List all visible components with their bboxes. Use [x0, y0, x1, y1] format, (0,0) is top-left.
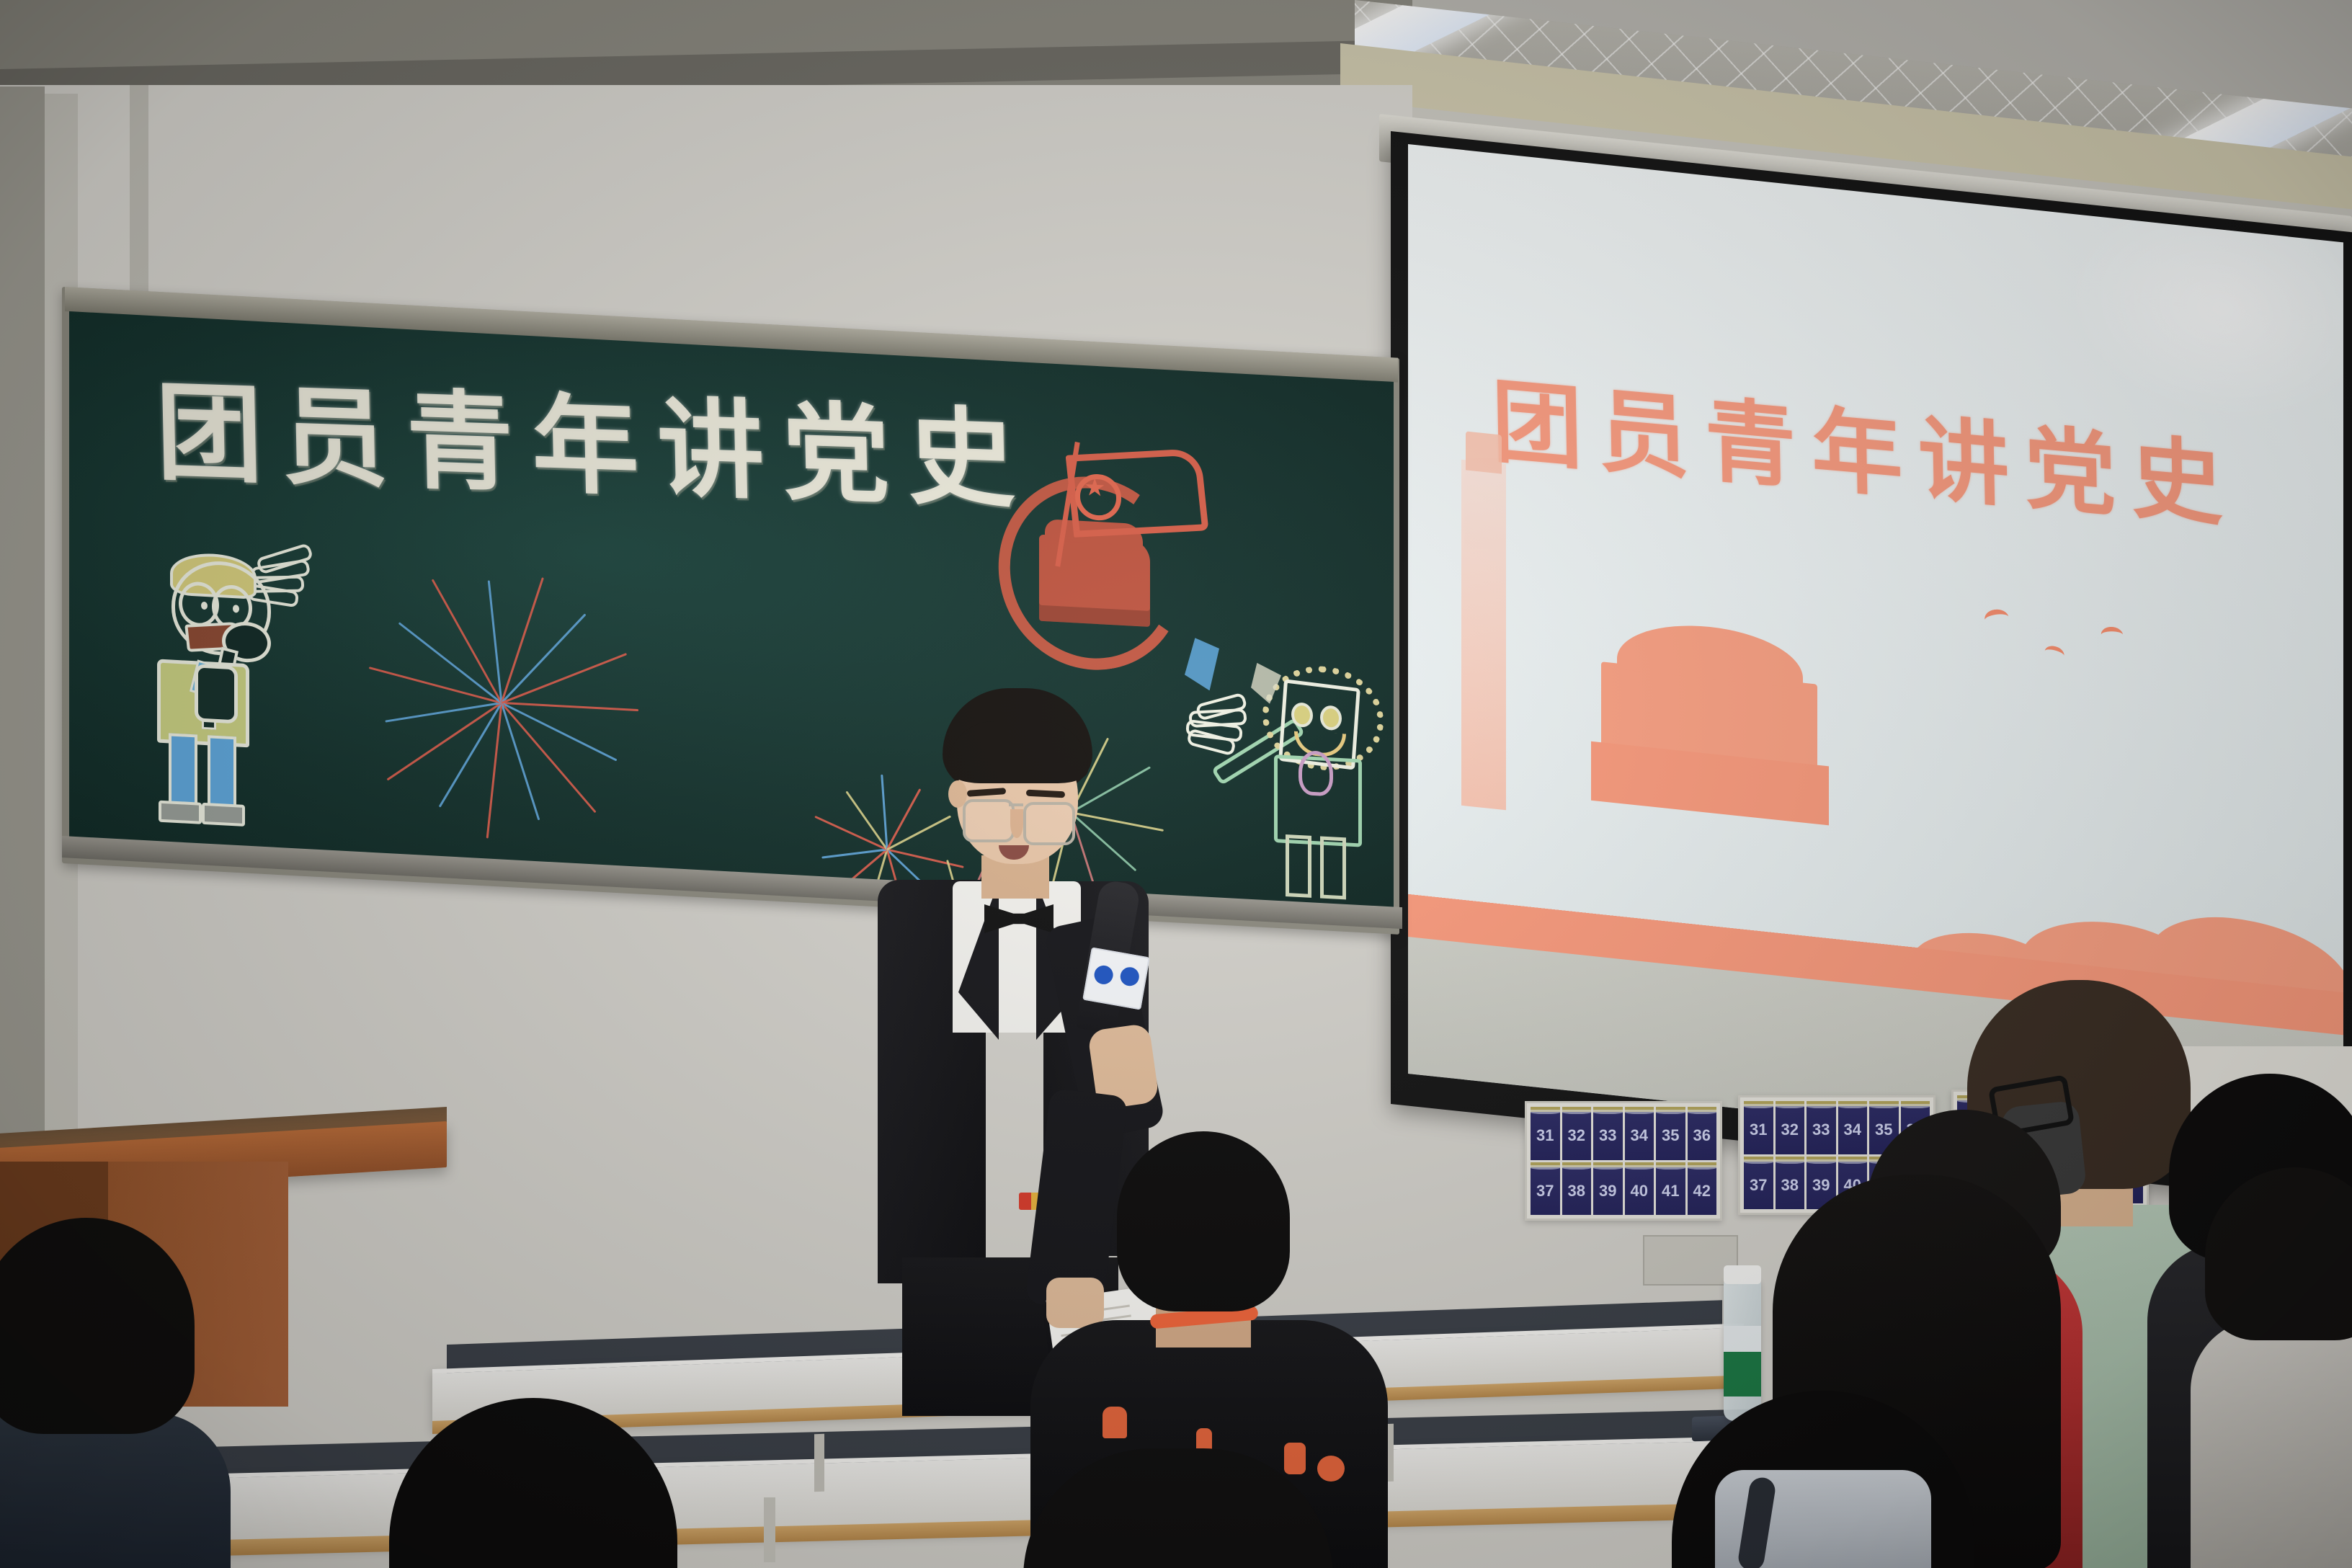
- water-bottle-upper-label: [1724, 1326, 1761, 1353]
- phone-pocket-board[interactable]: 31 32 33 34 35 36 37 38 39 40 41 42: [1525, 1101, 1722, 1221]
- dove-icon: [2101, 627, 2124, 643]
- dove-icon: [1982, 608, 2010, 630]
- pillar-outer: [0, 86, 45, 1167]
- pocket-cell[interactable]: 39: [1593, 1162, 1623, 1216]
- dove-icon: [2044, 644, 2065, 663]
- desk-divider: [814, 1434, 824, 1492]
- lecture-hall-photo: 团员青年讲党史 团员青年讲党史: [0, 0, 2352, 1568]
- pocket-cell[interactable]: 33: [1807, 1101, 1836, 1154]
- hair: [0, 1218, 195, 1434]
- chalk-curly-hair-singer: [1229, 661, 1394, 909]
- pocket-cell[interactable]: 41: [1656, 1162, 1685, 1216]
- audience-foreground-left: [389, 1398, 677, 1568]
- chalk-girl-leg: [1320, 836, 1346, 899]
- chalk-boy-leg: [208, 735, 236, 811]
- communist-youth-league-emblem: [999, 447, 1186, 659]
- hair: [2205, 1167, 2352, 1340]
- pocket-cell[interactable]: 31: [1744, 1101, 1773, 1154]
- chalk-firework-large-red-blue: [350, 543, 653, 861]
- pocket-cell[interactable]: 32: [1562, 1107, 1592, 1160]
- chalk-girl-eye: [1291, 702, 1313, 728]
- navy-hoodie: [0, 1412, 231, 1568]
- pocket-cell[interactable]: 34: [1625, 1107, 1654, 1160]
- pocket-cell[interactable]: 31: [1531, 1107, 1560, 1160]
- hair: [1117, 1131, 1290, 1311]
- pocket-cell[interactable]: 32: [1776, 1101, 1805, 1154]
- desk-divider: [764, 1497, 775, 1562]
- water-bottle-cap: [1724, 1265, 1761, 1284]
- blackboard-headline: 团员青年讲党史: [154, 345, 1035, 529]
- eyeglasses-bridge: [1009, 803, 1023, 806]
- hair: [389, 1398, 677, 1568]
- chalk-boy-shoe: [202, 803, 245, 827]
- pocket-cell[interactable]: 37: [1744, 1157, 1773, 1210]
- pocket-cell[interactable]: 42: [1688, 1162, 1717, 1216]
- eyeglasses-lens: [1023, 802, 1075, 845]
- chalk-boy-leg: [169, 733, 197, 809]
- chalk-paper-blue: [1185, 637, 1219, 691]
- shirt-graphic: [1102, 1407, 1127, 1438]
- water-bottle-label: [1724, 1352, 1761, 1396]
- pocket-cell[interactable]: 36: [1688, 1107, 1717, 1160]
- monument-graphic: [1461, 460, 1506, 811]
- audience-foreground-center: [1023, 1448, 1333, 1568]
- chalk-boy-with-microphone: [141, 524, 343, 837]
- pocket-cell[interactable]: 35: [1656, 1107, 1685, 1160]
- pocket-cell[interactable]: 40: [1625, 1162, 1654, 1216]
- emblem-tiananmen: [1039, 535, 1150, 627]
- audience-light-top-far-right: [2205, 1167, 2352, 1568]
- blackboard: 团员青年讲党史: [69, 311, 1394, 915]
- chalk-waving-hand: [1186, 697, 1247, 750]
- pocket-cell[interactable]: 37: [1531, 1162, 1560, 1216]
- pocket-cell[interactable]: 38: [1562, 1162, 1592, 1216]
- hair-fringe: [947, 721, 1088, 783]
- chalk-girl-leg: [1286, 834, 1311, 898]
- pocket-cell[interactable]: 33: [1593, 1107, 1623, 1160]
- chalk-girl-eye: [1320, 705, 1342, 731]
- eyeglasses-lens: [963, 799, 1015, 842]
- chalk-boy-shoe: [159, 801, 202, 824]
- tiananmen-gate-graphic: [1601, 661, 1817, 821]
- light-top: [2191, 1319, 2352, 1568]
- hair: [1023, 1448, 1333, 1568]
- audience-navy-hoodie-left: [0, 1218, 216, 1568]
- chalk-boy-hand: [195, 664, 238, 723]
- nose: [1010, 809, 1023, 838]
- microphone-flag-cube: [1082, 947, 1150, 1010]
